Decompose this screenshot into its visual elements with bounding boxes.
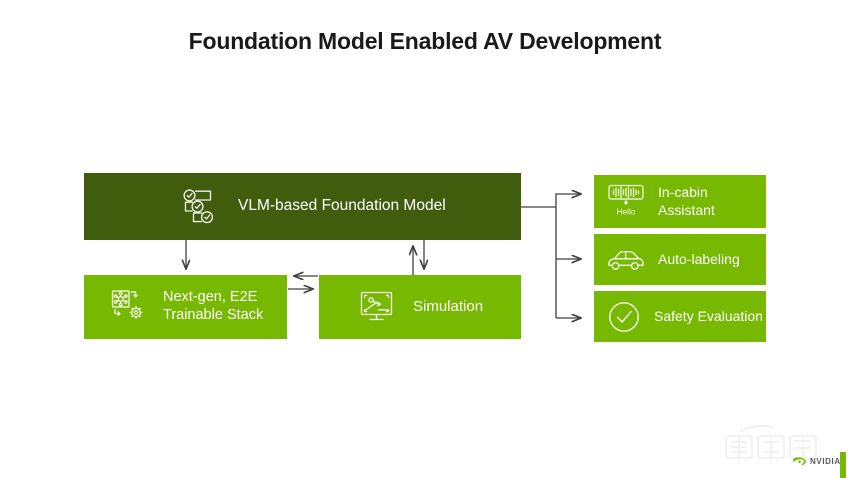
node-label-safety-evaluation: Safety Evaluation: [654, 308, 766, 325]
node-label-auto-labeling: Auto-labeling: [658, 251, 766, 268]
monitor-simulation-icon: [359, 290, 397, 324]
nvidia-eye-icon: [792, 456, 807, 467]
node-label-simulation: Simulation: [413, 298, 521, 316]
slide-canvas: Foundation Model Enabled AV Development: [0, 0, 850, 478]
nvidia-logo: NVIDIA: [792, 456, 841, 467]
neural-network-gear-icon: [110, 288, 150, 326]
node-next-gen-e2e-trainable-stack[interactable]: Next-gen, E2E Trainable Stack: [84, 275, 287, 339]
node-vlm-foundation-model[interactable]: VLM-based Foundation Model: [84, 173, 521, 240]
node-label-in-cabin-assistant: In-cabin Assistant: [658, 184, 766, 218]
nvidia-wordmark: NVIDIA: [810, 457, 841, 466]
workflow-checklist-icon: [182, 188, 222, 226]
page-title: Foundation Model Enabled AV Development: [0, 28, 850, 55]
node-in-cabin-assistant[interactable]: Hello In-cabin Assistant: [594, 175, 766, 228]
edge-foundation-branch-trunk: [521, 200, 556, 318]
car-outline-icon: [606, 246, 646, 274]
voice-waveform-icon: Hello: [606, 182, 646, 222]
node-label-vlm-foundation-model: VLM-based Foundation Model: [238, 197, 521, 216]
corner-accent-bar: [840, 452, 846, 478]
node-auto-labeling[interactable]: Auto-labeling: [594, 234, 766, 285]
circle-check-icon: [606, 299, 642, 335]
node-label-next-gen-e2e-trainable-stack: Next-gen, E2E Trainable Stack: [163, 289, 287, 324]
node-simulation[interactable]: Simulation: [319, 275, 521, 339]
edge-foundation-to-incabin: [556, 194, 581, 200]
voice-waveform-icon-caption: Hello: [617, 207, 636, 216]
node-safety-evaluation[interactable]: Safety Evaluation: [594, 291, 766, 342]
